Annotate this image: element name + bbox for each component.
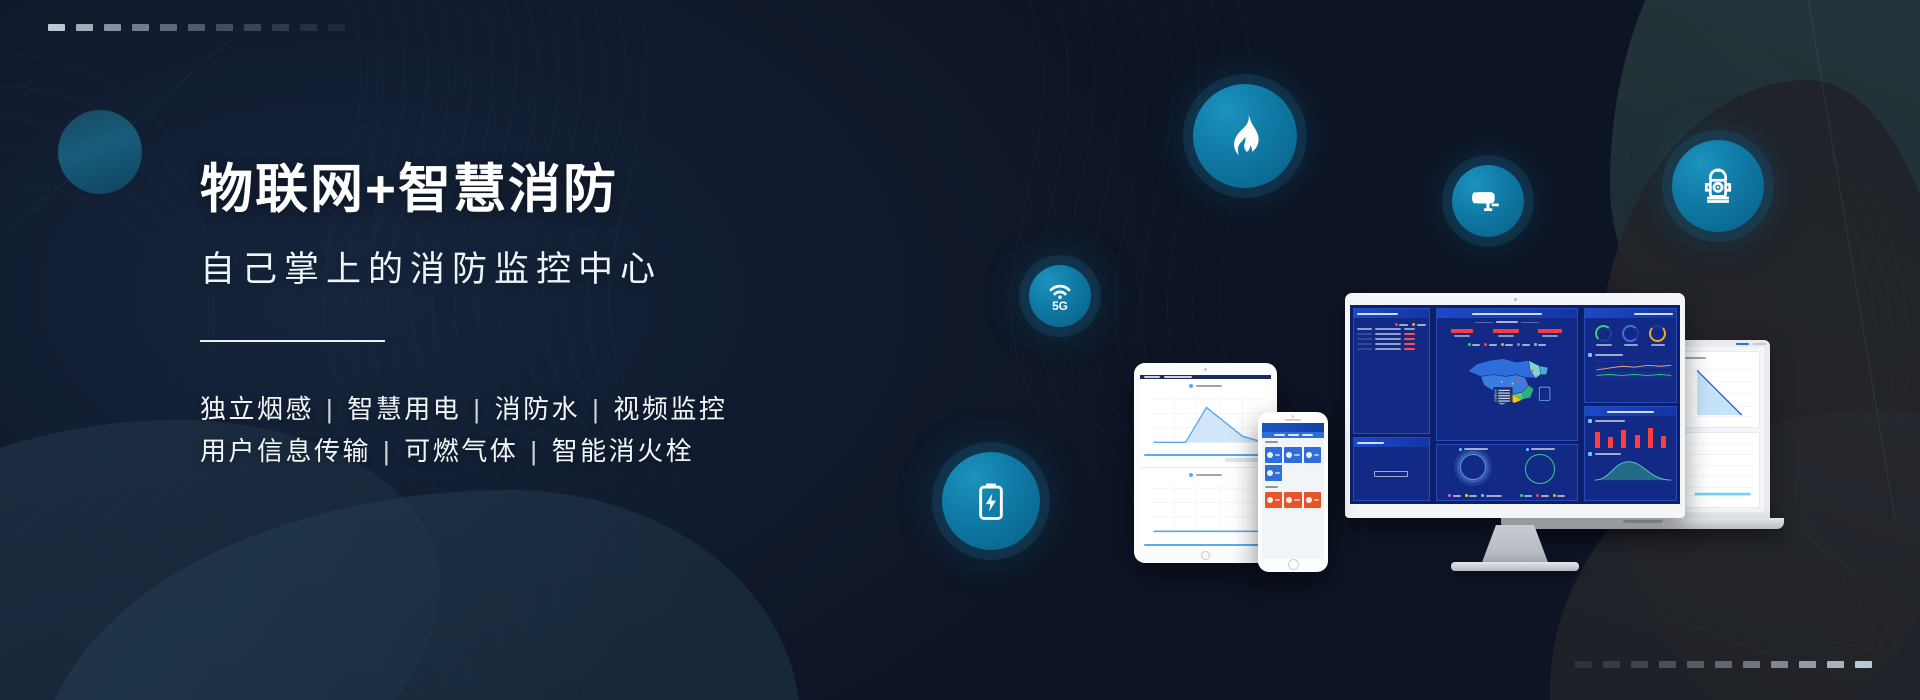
feature-line: 独立烟感 | 智慧用电 | 消防水 | 视频监控 xyxy=(200,388,960,430)
bar-chart-alarms xyxy=(1588,426,1673,448)
alarm-list-panel xyxy=(1353,308,1430,434)
feature-item: 消防水 xyxy=(495,388,581,430)
monitor-screen xyxy=(1350,305,1680,504)
area-chart-distribution xyxy=(1588,459,1673,481)
panel-body xyxy=(1585,416,1676,500)
feature-item: 可燃气体 xyxy=(404,430,518,472)
feature-separator: | xyxy=(326,388,335,430)
blob-bottom-left-2 xyxy=(40,490,800,700)
flame-icon xyxy=(1219,110,1271,162)
battery-bolt-icon xyxy=(968,478,1014,524)
table-row xyxy=(1357,338,1426,340)
tablet-chart-card-2 xyxy=(1140,468,1271,551)
chart-title xyxy=(1144,384,1267,388)
feature-item: 用户信息传输 xyxy=(200,430,371,472)
phone-tile[interactable] xyxy=(1265,465,1282,481)
table-header-row xyxy=(1357,328,1426,330)
phone-titlebar xyxy=(1262,423,1324,432)
table-row xyxy=(1357,348,1426,350)
area-decline-chart xyxy=(1677,363,1755,423)
feature-item: 视频监控 xyxy=(613,388,727,430)
radar-chart-1 xyxy=(1460,454,1486,480)
page-title: 物联网+智慧消防 xyxy=(200,160,960,219)
camera-badge xyxy=(1452,165,1524,237)
map-legend xyxy=(1440,341,1575,348)
battery-badge xyxy=(942,452,1040,550)
sub-header xyxy=(1588,353,1673,357)
flat-line-card xyxy=(1672,432,1760,509)
chart-body xyxy=(1144,480,1267,544)
divider xyxy=(200,340,385,342)
desktop-monitor xyxy=(1345,293,1685,518)
tablet-flat-chart xyxy=(1144,480,1267,544)
line-chart-trend xyxy=(1588,358,1673,380)
table-row xyxy=(1357,343,1426,345)
hero-copy: 物联网+智慧消防 自己掌上的消防监控中心 独立烟感 | 智慧用电 | 消防水 |… xyxy=(200,160,960,473)
kpi-item xyxy=(1451,329,1473,337)
device-status-panel xyxy=(1353,437,1430,501)
panel-body xyxy=(1354,318,1429,433)
feature-separator: | xyxy=(592,388,601,430)
panel-body xyxy=(1437,318,1578,440)
kpi-item xyxy=(1538,329,1562,337)
radar-stats-panel xyxy=(1436,444,1579,501)
feature-line: 用户信息传输 | 可燃气体 | 智能消火栓 xyxy=(200,430,960,472)
gauge-orange xyxy=(1649,325,1666,342)
fire-hydrant-icon xyxy=(1695,163,1741,209)
table-row xyxy=(1357,333,1426,335)
chart-body xyxy=(1677,363,1755,423)
device-mockups xyxy=(1120,285,1760,585)
card-header xyxy=(1677,356,1755,360)
china-map xyxy=(1440,348,1575,412)
sub-header xyxy=(1588,419,1673,423)
phone-camera-dot xyxy=(1292,415,1295,418)
page-subtitle: 自己掌上的消防监控中心 xyxy=(200,241,960,292)
chart-body xyxy=(1677,437,1755,504)
phone-tile[interactable] xyxy=(1304,447,1321,463)
panel-header xyxy=(1354,438,1429,447)
panel-header xyxy=(1585,407,1676,416)
dashboard-column-left xyxy=(1350,305,1433,504)
gauge-green xyxy=(1595,325,1612,342)
sub-header xyxy=(1588,452,1673,456)
panel-body xyxy=(1437,445,1578,492)
tablet xyxy=(1134,363,1277,563)
monitor-webcam-dot xyxy=(1514,298,1517,301)
tablet-screen xyxy=(1140,375,1271,551)
phone-speaker xyxy=(1285,419,1301,421)
phone-tile[interactable] xyxy=(1284,447,1301,463)
map-overview-panel xyxy=(1436,308,1579,441)
flame-badge xyxy=(1193,84,1297,188)
hero-banner: 物联网+智慧消防 自己掌上的消防监控中心 独立烟感 | 智慧用电 | 消防水 |… xyxy=(0,0,1920,700)
feature-item: 智能消火栓 xyxy=(552,430,695,472)
feature-item: 智慧用电 xyxy=(347,388,461,430)
chart-axis xyxy=(1144,454,1267,456)
legend xyxy=(1357,321,1426,328)
decline-chart-card xyxy=(1672,351,1760,428)
panel-body xyxy=(1585,318,1676,402)
bar-and-area-panel xyxy=(1584,406,1677,501)
tablet-peak-chart xyxy=(1144,391,1267,455)
kpi-item xyxy=(1493,329,1519,337)
phone-tile-alert[interactable] xyxy=(1284,492,1301,508)
tablet-chart-card-1 xyxy=(1140,379,1271,469)
tablet-home-button[interactable] xyxy=(1201,551,1210,560)
phone-tile-grid-red xyxy=(1262,492,1324,508)
monitor-base xyxy=(1451,562,1579,571)
panel-header xyxy=(1437,309,1578,318)
phone-tile-alert[interactable] xyxy=(1304,492,1321,508)
feature-separator: | xyxy=(473,388,482,430)
radar-chart-2 xyxy=(1525,454,1555,484)
laptop-base xyxy=(1501,518,1784,529)
panel-header xyxy=(1354,309,1429,318)
decorative-circle xyxy=(58,110,142,194)
feature-separator: | xyxy=(383,430,392,472)
chart-body xyxy=(1144,391,1267,455)
phone-tabs[interactable] xyxy=(1262,432,1324,438)
phone-section-label xyxy=(1265,441,1324,445)
phone-tile[interactable] xyxy=(1265,447,1282,463)
feature-item: 独立烟感 xyxy=(200,388,314,430)
dash-row-top-left xyxy=(48,24,345,31)
gauge-panel xyxy=(1584,308,1677,403)
panel-body xyxy=(1354,447,1429,500)
dashboard-column-right xyxy=(1581,305,1680,504)
hydrant-badge xyxy=(1672,140,1764,232)
phone-section-label xyxy=(1265,486,1324,490)
phone-tile-alert[interactable] xyxy=(1265,492,1282,508)
chart-axis xyxy=(1144,544,1267,546)
dash-row-bottom-right xyxy=(1575,661,1872,668)
kpi-row xyxy=(1440,325,1575,339)
5g-signal-icon: 5G xyxy=(1043,279,1077,313)
gauge-row xyxy=(1588,321,1673,350)
panel-header xyxy=(1585,309,1676,318)
chart-title xyxy=(1144,473,1267,477)
phone-tile-grid-blue xyxy=(1262,447,1324,481)
dashboard-column-center xyxy=(1433,305,1582,504)
phone-home-button[interactable] xyxy=(1288,559,1299,570)
feature-list: 独立烟感 | 智慧用电 | 消防水 | 视频监控 用户信息传输 | 可燃气体 |… xyxy=(200,388,960,472)
tablet-camera-dot xyxy=(1204,368,1207,371)
flat-line-chart xyxy=(1677,437,1755,504)
security-camera-icon xyxy=(1469,182,1507,220)
laptop-trackpad-notch xyxy=(1623,520,1663,523)
gauge-blue xyxy=(1622,325,1639,342)
svg-text:5G: 5G xyxy=(1052,299,1068,313)
phone-screen xyxy=(1262,423,1324,559)
feature-separator: | xyxy=(530,430,539,472)
smartphone xyxy=(1258,412,1328,572)
legend xyxy=(1437,492,1578,500)
fiveg-badge: 5G xyxy=(1029,265,1091,327)
